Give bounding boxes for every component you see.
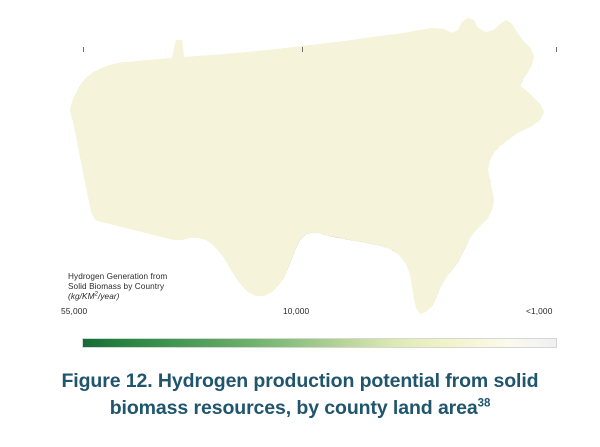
figure-caption-line-2-text: biomass resources, by county land area [110,397,478,419]
legend-units-prefix: (kg/KM [68,292,95,301]
legend-tick-high: 55,000 [61,306,87,316]
legend-tick-low: <1,000 [526,306,552,316]
legend-tick-mark-high [83,47,84,52]
legend-title-line-1: Hydrogen Generation from [68,272,278,282]
legend-tick-mid: 10,000 [283,306,309,316]
legend-title: Hydrogen Generation from Solid Biomass b… [68,272,278,303]
legend-tick-mark-mid [302,47,303,52]
figure-caption-line-2: biomass resources, by county land area38 [0,395,600,422]
legend-colorbar [82,338,557,348]
figure-container: Hydrogen Generation from Solid Biomass b… [0,0,600,447]
legend-colorbar-gradient [83,339,556,347]
figure-caption-footnote: 38 [478,398,491,410]
figure-caption: Figure 12. Hydrogen production potential… [0,368,600,422]
legend-units-suffix: /year) [98,292,120,301]
legend-units: (kg/KM2/year) [68,292,278,302]
figure-caption-line-1: Figure 12. Hydrogen production potential… [0,368,600,395]
legend-tick-mark-low [556,47,557,52]
us-outline [70,18,544,314]
legend-tick-labels: 55,000 10,000 <1,000 [0,306,600,319]
legend-title-line-2: Solid Biomass by Country [68,282,278,292]
